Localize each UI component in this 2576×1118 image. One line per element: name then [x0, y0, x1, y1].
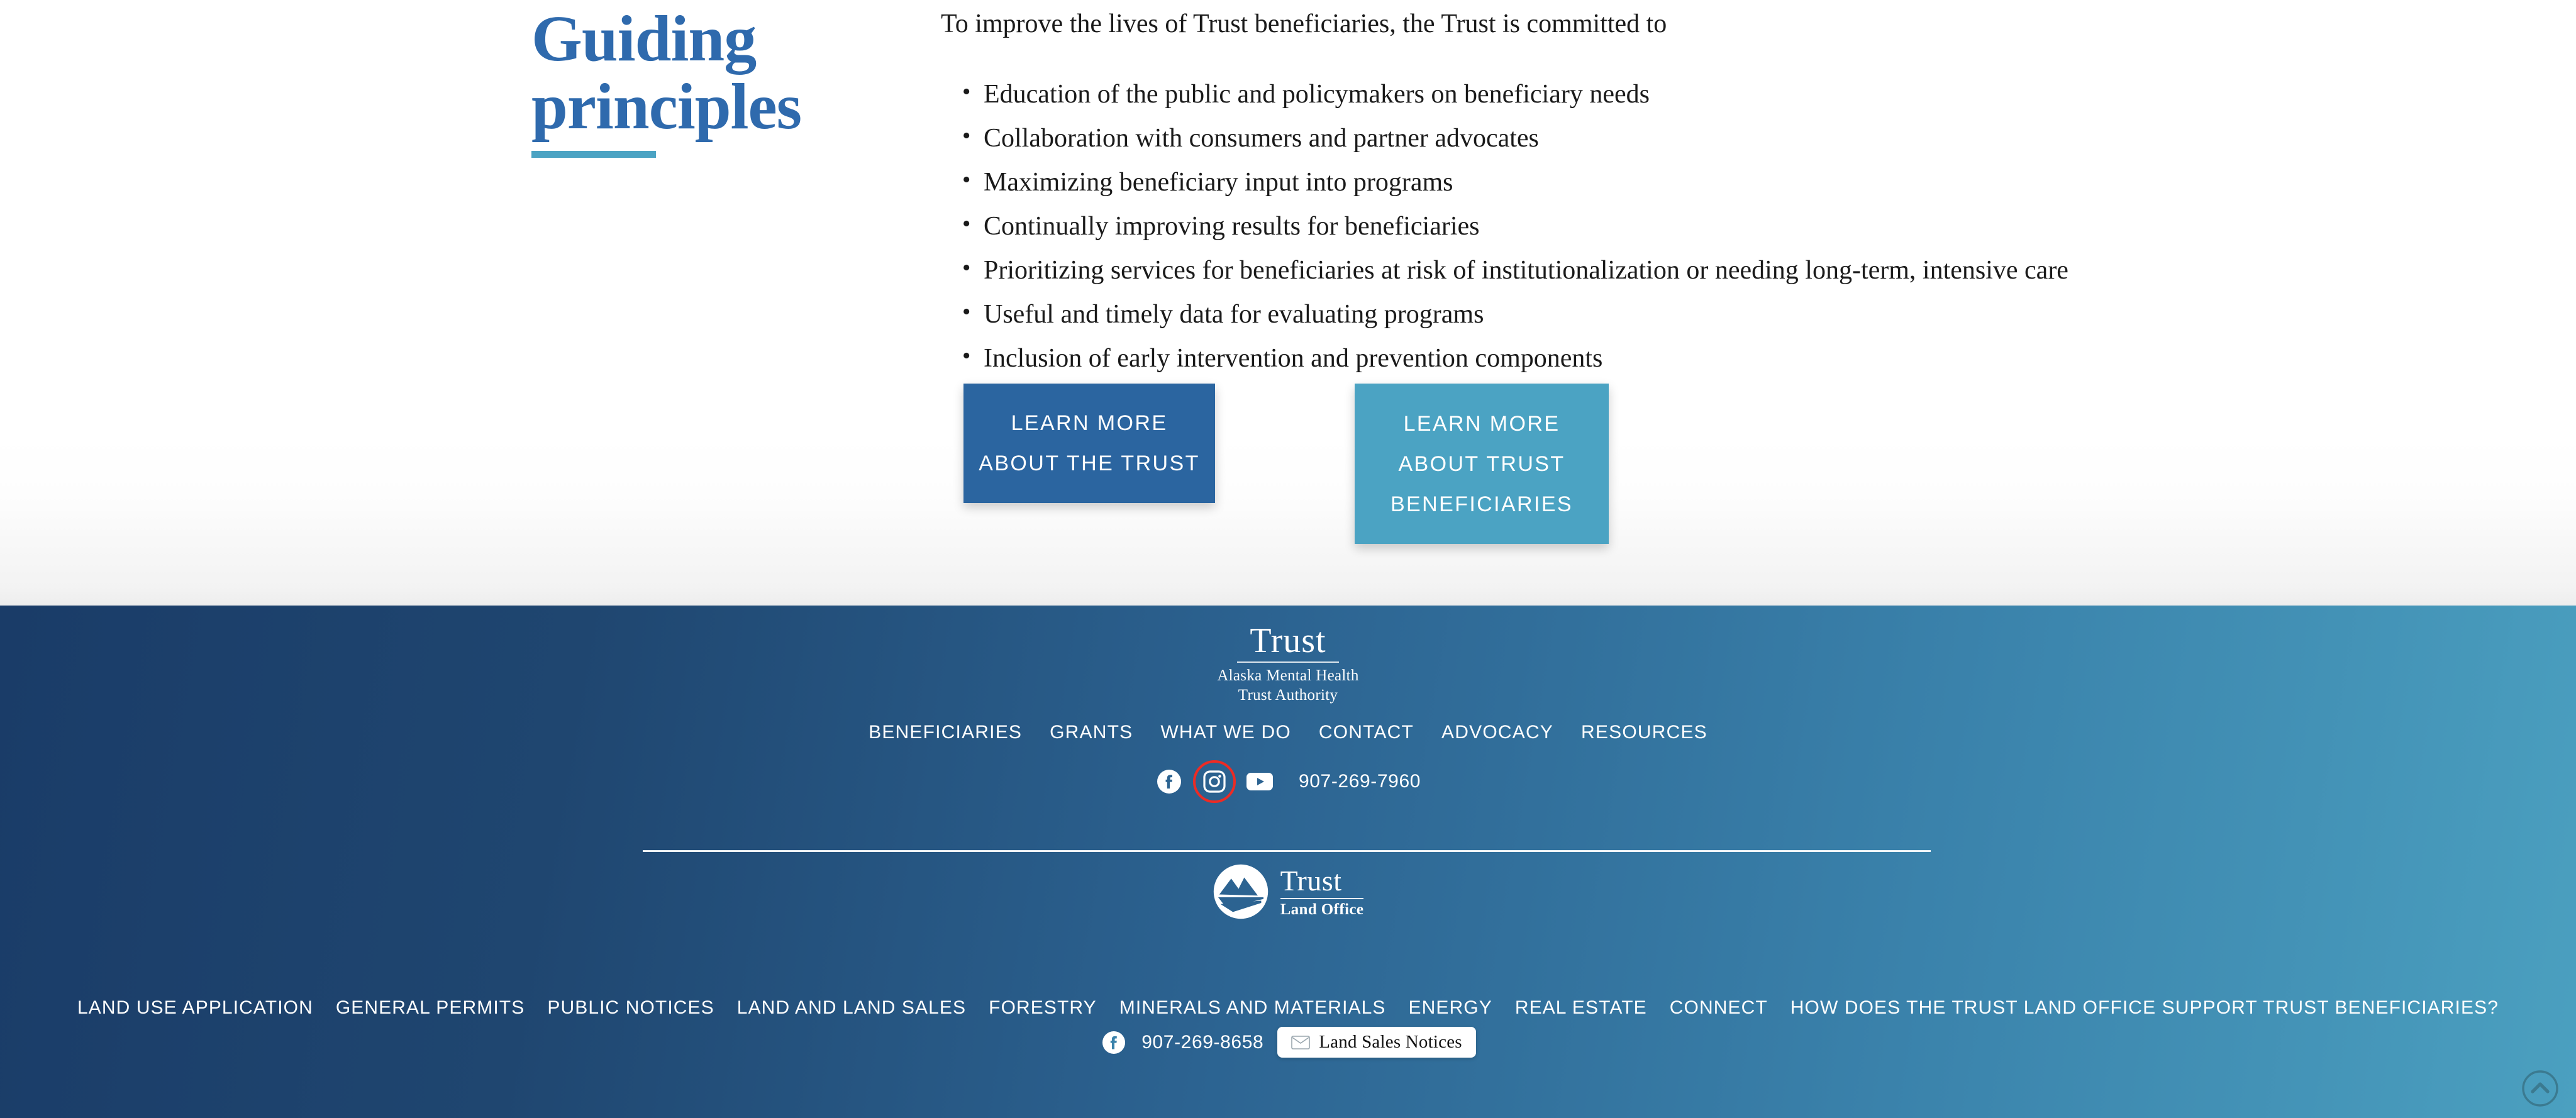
list-item: Prioritizing services for beneficiaries …: [941, 257, 2375, 284]
envelope-icon: [1291, 1036, 1310, 1049]
principles-list: Education of the public and policymakers…: [941, 81, 2375, 372]
heading-line-2: principles: [531, 74, 884, 140]
heading-underline-bar: [531, 151, 656, 158]
mountain-logo-icon: [1213, 863, 1269, 920]
tlo-logo-wordmark: Trust: [1280, 866, 1364, 895]
trust-phone-number[interactable]: 907-269-7960: [1299, 771, 1421, 792]
footer-social-row: 907-269-7960: [0, 768, 2576, 795]
chevron-up-icon: [2521, 1069, 2560, 1108]
page-title: Guiding principles: [531, 6, 884, 140]
footer-nav-beneficiaries[interactable]: BENEFICIARIES: [869, 722, 1022, 743]
land-sales-notices-button[interactable]: Land Sales Notices: [1277, 1027, 1476, 1058]
tlo-nav-how-does-tlo-support-beneficiaries[interactable]: HOW DOES THE TRUST LAND OFFICE SUPPORT T…: [1790, 997, 2499, 1019]
list-item: Useful and timely data for evaluating pr…: [941, 301, 2375, 328]
tlo-logo-rule: [1280, 898, 1364, 899]
land-office-nav: LAND USE APPLICATION GENERAL PERMITS PUB…: [0, 997, 2576, 1019]
list-item: Maximizing beneficiary input into progra…: [941, 169, 2375, 196]
cta-primary-line-1: LEARN MORE: [1011, 412, 1168, 434]
land-sales-notices-label: Land Sales Notices: [1319, 1032, 1462, 1053]
tlo-nav-minerals-and-materials[interactable]: MINERALS AND MATERIALS: [1119, 997, 1386, 1019]
cta-button-row: LEARN MORE ABOUT THE TRUST LEARN MORE AB…: [963, 379, 1718, 567]
tlo-nav-land-use-application[interactable]: LAND USE APPLICATION: [77, 997, 313, 1019]
land-office-phone-number[interactable]: 907-269-8658: [1141, 1032, 1263, 1053]
site-footer: Trust Alaska Mental Health Trust Authori…: [0, 606, 2576, 1118]
footer-divider: [643, 850, 1931, 852]
tlo-nav-general-permits[interactable]: GENERAL PERMITS: [336, 997, 525, 1019]
tlo-nav-forestry[interactable]: FORESTRY: [989, 997, 1097, 1019]
footer-nav-resources[interactable]: RESOURCES: [1581, 722, 1707, 743]
guiding-principles-section: Guiding principles To improve the lives …: [0, 0, 2576, 606]
cta-secondary-line-3: BENEFICIARIES: [1391, 494, 1573, 515]
section-body-block: To improve the lives of Trust beneficiar…: [941, 6, 2375, 389]
footer-primary-nav: BENEFICIARIES GRANTS WHAT WE DO CONTACT …: [0, 722, 2576, 743]
trust-logo-rule: [1237, 661, 1339, 663]
tlo-nav-energy[interactable]: ENERGY: [1409, 997, 1492, 1019]
trust-authority-logo[interactable]: Trust Alaska Mental Health Trust Authori…: [0, 623, 2576, 705]
heading-line-1: Guiding: [531, 3, 756, 75]
tlo-nav-public-notices[interactable]: PUBLIC NOTICES: [547, 997, 714, 1019]
list-item: Inclusion of early intervention and prev…: [941, 345, 2375, 372]
scroll-to-top-button[interactable]: [2521, 1069, 2560, 1108]
footer-nav-advocacy[interactable]: ADVOCACY: [1441, 722, 1553, 743]
tlo-nav-land-and-land-sales[interactable]: LAND AND LAND SALES: [737, 997, 966, 1019]
lead-paragraph: To improve the lives of Trust beneficiar…: [941, 6, 2375, 42]
footer-nav-what-we-do[interactable]: WHAT WE DO: [1160, 722, 1291, 743]
instagram-icon[interactable]: [1201, 768, 1228, 795]
cta-secondary-line-2: ABOUT TRUST: [1398, 453, 1565, 475]
learn-more-about-the-trust-button[interactable]: LEARN MORE ABOUT THE TRUST: [963, 384, 1215, 503]
trust-logo-wordmark: Trust: [0, 623, 2576, 658]
tlo-nav-connect[interactable]: CONNECT: [1670, 997, 1768, 1019]
list-item: Education of the public and policymakers…: [941, 81, 2375, 108]
list-item: Continually improving results for benefi…: [941, 213, 2375, 240]
facebook-icon-land-office[interactable]: [1100, 1029, 1128, 1056]
land-office-contact-row: 907-269-8658 Land Sales Notices: [0, 1027, 2576, 1058]
tlo-logo-subtitle: Land Office: [1280, 902, 1364, 917]
trust-logo-subtitle-line-1: Alaska Mental Health: [0, 667, 2576, 686]
trust-land-office-logo[interactable]: Trust Land Office: [0, 863, 2576, 920]
list-item: Collaboration with consumers and partner…: [941, 125, 2375, 152]
footer-nav-grants[interactable]: GRANTS: [1050, 722, 1133, 743]
learn-more-about-trust-beneficiaries-button[interactable]: LEARN MORE ABOUT TRUST BENEFICIARIES: [1355, 384, 1609, 544]
cta-secondary-line-1: LEARN MORE: [1404, 413, 1560, 434]
facebook-icon[interactable]: [1155, 768, 1183, 795]
trust-logo-subtitle-line-2: Trust Authority: [0, 686, 2576, 706]
section-heading-block: Guiding principles: [531, 6, 884, 158]
footer-nav-contact[interactable]: CONTACT: [1319, 722, 1414, 743]
cta-primary-line-2: ABOUT THE TRUST: [979, 453, 1200, 474]
youtube-icon[interactable]: [1246, 768, 1274, 795]
tlo-nav-real-estate[interactable]: REAL ESTATE: [1515, 997, 1647, 1019]
